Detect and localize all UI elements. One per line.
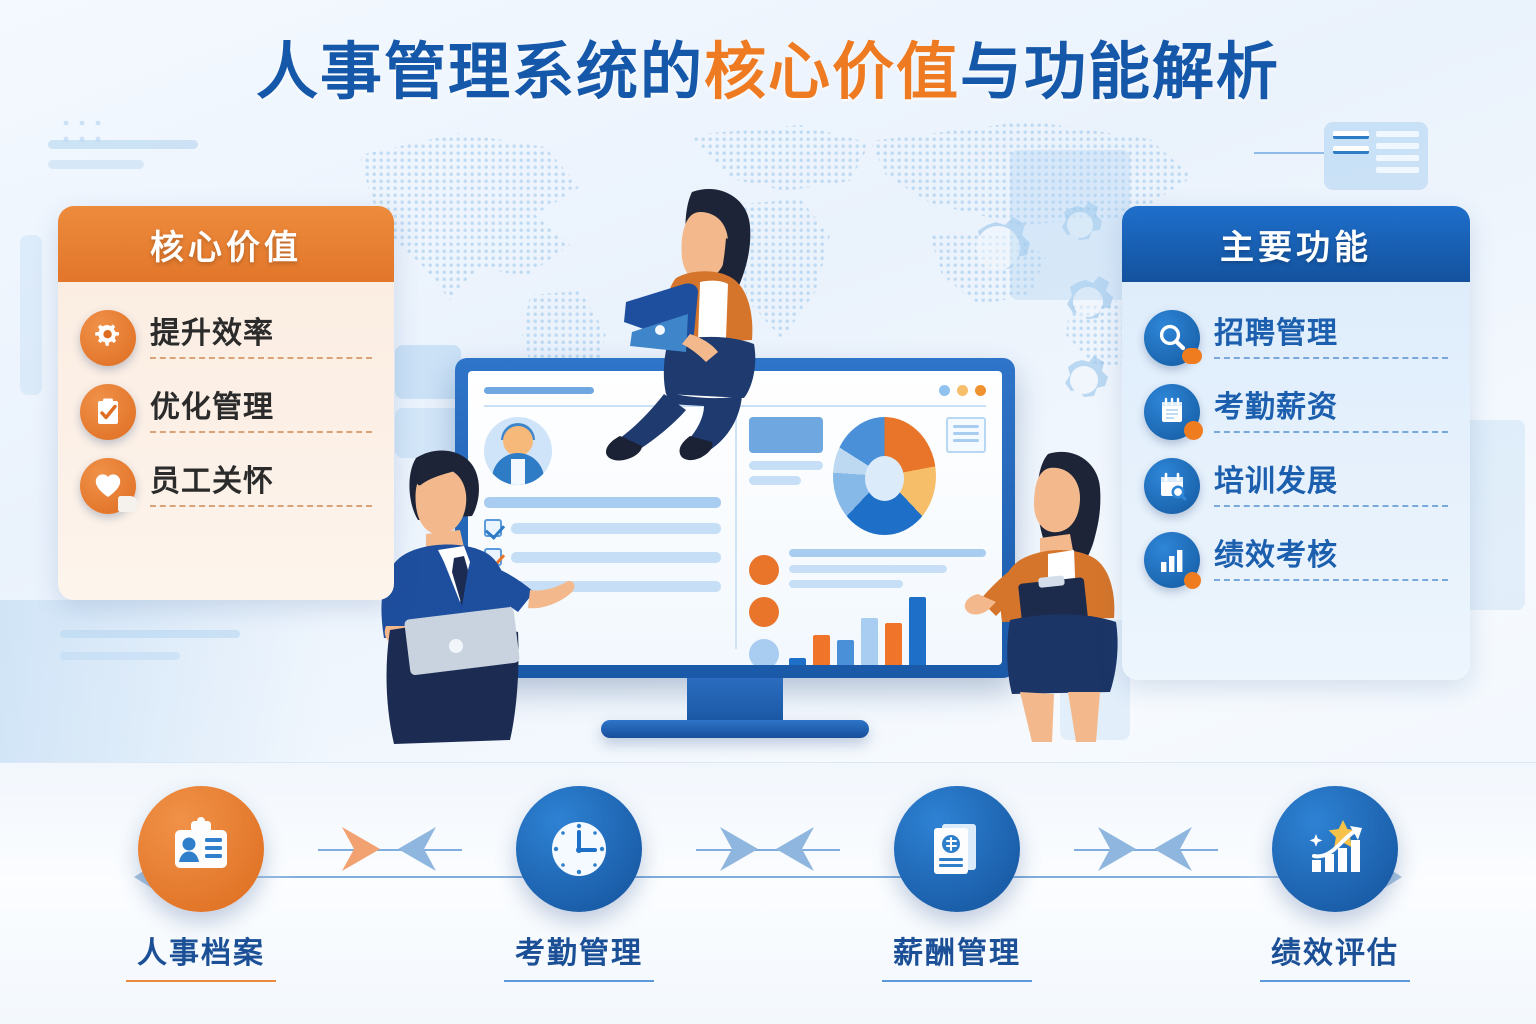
core-value-row[interactable]: 员工关怀 [80,452,372,524]
function-row[interactable]: 考勤薪资 [1144,378,1448,450]
page-title: 人事管理系统的核心价值与功能解析 [256,42,1280,104]
status-dot-orange-icon [749,597,779,627]
gear-icon [80,310,136,366]
bar [789,658,806,665]
id-badge-icon [138,786,264,912]
monitor-stand-base [601,720,869,738]
main-functions-header: 主要功能 [1122,206,1470,282]
donut-chart [833,417,936,535]
timeline-node-3[interactable]: 薪酬管理 [822,786,1092,982]
timeline-label: 薪酬管理 [893,928,1021,972]
status-dot-orange-icon [749,555,779,585]
payroll-doc-icon [894,786,1020,912]
title-segment-blue-tail: 与功能解析 [960,38,1280,107]
window-controls[interactable] [939,385,986,396]
function-label: 绩效考核 [1214,539,1448,582]
main-functions-list: 招聘管理 考勤薪资 [1122,282,1470,680]
window-dot-amber-icon[interactable] [957,385,968,396]
page-title-wrap: 人事管理系统的核心价值与功能解析 [0,42,1536,104]
function-row[interactable]: 培训发展 [1144,452,1448,524]
main-functions-panel: 主要功能 招聘管理 考勤薪 [1122,206,1470,680]
metrics-row [749,549,986,665]
clipboard-check-icon [80,384,136,440]
timeline-label: 绩效评估 [1271,928,1399,972]
timeline-label: 人事档案 [137,928,265,972]
decor-square [395,345,461,399]
decor-bar [48,160,144,169]
timeline-underline [1260,980,1410,982]
process-timeline: 人事档案 [0,786,1536,1006]
function-row[interactable]: 绩效考核 [1144,526,1448,598]
decor-gradient [0,600,330,770]
monitor-stand-neck [687,678,783,720]
bar [861,618,878,665]
infographic-canvas: 人事管理系统的核心价值与功能解析 核心价值 提升效率 优化管理 [0,0,1536,1024]
bar [837,640,854,665]
decor-bar [60,652,180,660]
window-dot-orange-icon[interactable] [975,385,986,396]
magnifier-icon [1144,310,1200,366]
dot-grid-decor [62,118,132,158]
status-dot-blue-icon [749,639,779,665]
timeline-underline [504,980,654,982]
core-values-panel: 核心价值 提升效率 优化管理 [58,206,394,600]
core-values-header: 核心价值 [58,206,394,282]
notepad-badge-icon [1144,384,1200,440]
timeline-underline [882,980,1032,982]
core-value-row[interactable]: 优化管理 [80,378,372,450]
timeline-connector-3 [1092,786,1200,912]
function-row[interactable]: 招聘管理 [1144,304,1448,376]
function-label: 培训发展 [1214,465,1448,508]
clock-icon [516,786,642,912]
chart-accent [1184,572,1201,589]
core-value-label: 优化管理 [150,391,372,434]
core-value-label: 提升效率 [150,317,372,360]
bar-chart-icon [1144,532,1200,588]
window-dot-blue-icon[interactable] [939,385,950,396]
title-segment-blue: 人事管理系统的 [256,38,704,107]
title-segment-orange: 核心价值 [704,38,960,107]
timeline-label: 考勤管理 [515,928,643,972]
timeline-node-4[interactable]: 绩效评估 [1200,786,1470,982]
timeline-underline [126,980,276,982]
core-values-list: 提升效率 优化管理 员工关怀 [58,282,394,600]
decor-document-card-icon [1324,122,1428,190]
function-label: 考勤薪资 [1214,391,1448,434]
calendar-search-icon [1144,458,1200,514]
core-value-row[interactable]: 提升效率 [80,304,372,376]
decor-bar [60,630,240,638]
decor-square [20,235,42,395]
function-label: 招聘管理 [1214,317,1448,360]
bar [909,597,926,665]
timeline-connector-2 [714,786,822,912]
timeline-node-1[interactable]: 人事档案 [66,786,336,982]
bar [885,623,902,665]
core-value-label: 员工关怀 [150,465,372,508]
window-title-placeholder [484,387,594,394]
heart-icon [80,458,136,514]
timeline-connector-1 [336,786,444,912]
notepad-accent [1184,421,1203,440]
timeline-node-2[interactable]: 考勤管理 [444,786,714,982]
magnifier-accent [1182,348,1202,364]
bar [813,635,830,665]
decor-square [1010,150,1130,300]
seated-woman-figure [596,182,806,482]
decor-leader-line [1254,152,1324,154]
growth-star-icon [1272,786,1398,912]
heart-accent [118,496,138,512]
status-dots [749,549,779,665]
